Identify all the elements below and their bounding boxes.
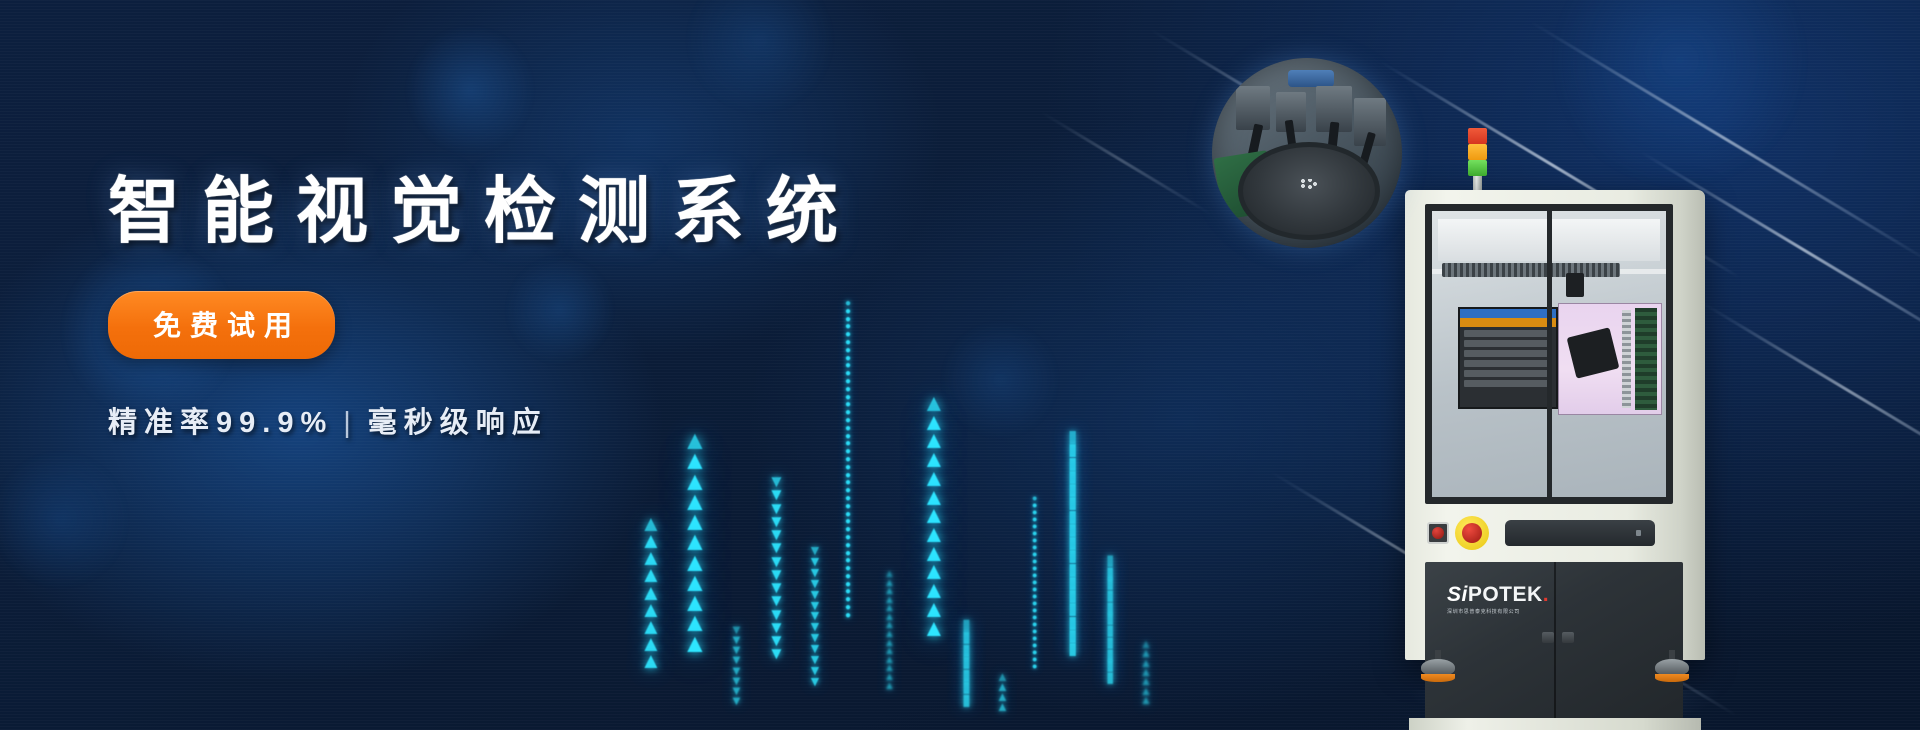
- promo-banner: ▲▲▲▲▲▲▲▲▲▲▲▲▲▲▲▲▲▲▲▲▼▼▼▼▼▼▼▼▼▼▼▼▼▼▼▼▼▼▼▼…: [0, 0, 1920, 730]
- cabinet-doors: SiPOTEK. 深圳市思普泰克科技有限公司: [1425, 562, 1683, 720]
- hmi-row: [1464, 360, 1552, 367]
- green-lamp: [1468, 160, 1487, 176]
- background-glow: [0, 450, 130, 590]
- workpiece-chip: [1567, 327, 1620, 378]
- hmi-titlebar: [1460, 309, 1556, 318]
- arrow-column: ▮▮▮▮▮▮▮: [962, 620, 971, 730]
- panel-pcb-edge: [1635, 308, 1657, 410]
- tagline-accuracy: 精准率99.9%: [108, 407, 333, 439]
- arrow-column: ▼▼▼▼▼▼▼▼: [730, 625, 743, 730]
- arrow-cell: ▲: [884, 682, 895, 691]
- machine-base: [1409, 718, 1701, 730]
- page-title: 智能视觉检测系统: [108, 172, 860, 253]
- foot-ring: [1421, 674, 1455, 682]
- arrow-cell: ▮: [1068, 642, 1077, 655]
- tagline-separator: |: [343, 407, 358, 439]
- tagline-response: 毫秒级响应: [368, 407, 548, 439]
- arrow-column: ▲▲▲▲: [996, 672, 1009, 730]
- brand-accent-dot: .: [1543, 583, 1549, 606]
- arrow-column: ▼▼▼▼▼▼▼▼▼▼▼▼▼: [808, 545, 822, 730]
- blue-cylinder-part: [1288, 70, 1334, 87]
- brand-wordmark: SiPOTEK.: [1447, 584, 1549, 605]
- hmi-row: [1464, 350, 1552, 357]
- panel-connector: [1622, 310, 1631, 408]
- hmi-row: [1464, 330, 1552, 337]
- foot-pin: [1669, 650, 1675, 659]
- signal-tower: [1468, 128, 1487, 196]
- arrow-cell: ●: [845, 612, 851, 620]
- door-handle-left[interactable]: [1542, 632, 1554, 643]
- arrow-cell: ▮: [1106, 672, 1114, 684]
- arrow-column: ▮▮▮▮▮▮▮▮▮▮▮: [1106, 555, 1114, 730]
- arrow-cell: ▲: [640, 652, 662, 669]
- inspection-camera: [1566, 273, 1584, 297]
- foot-ring: [1655, 674, 1689, 682]
- hmi-row: [1464, 370, 1552, 377]
- hmi-row: [1464, 380, 1552, 387]
- hmi-screen: [1458, 307, 1558, 409]
- arrow-cell: ▼: [730, 696, 743, 706]
- tagline: 精准率99.9%|毫秒级响应: [108, 399, 860, 441]
- arrow-column: ▼▼▼▼▼▼▼▼▼▼▼▼▼▼: [768, 475, 785, 730]
- arrow-cell: ▮: [962, 695, 971, 707]
- brand-si: Si: [1447, 583, 1468, 606]
- linear-rail: [1442, 263, 1620, 277]
- arrow-cell: ▲: [682, 633, 708, 653]
- selector-switch[interactable]: [1427, 522, 1449, 544]
- arrow-column: ▲▲▲▲▲▲▲: [1140, 640, 1152, 730]
- arrow-cell: ▼: [808, 676, 822, 687]
- amber-lamp: [1468, 144, 1487, 160]
- vision-inspection-machine: SiPOTEK. 深圳市思普泰克科技有限公司: [1405, 128, 1725, 730]
- brand-potek: POTEK: [1468, 583, 1543, 606]
- arrow-column: ▲▲▲▲▲▲▲▲▲▲▲▲▲: [922, 395, 946, 730]
- arrow-cell: ▲: [996, 702, 1009, 712]
- arrow-column: ●●●●●●●●●●●●●●●●●●●●●●●●●: [1032, 495, 1037, 730]
- rotary-turntable: [1238, 142, 1380, 240]
- camera-head-left: [1236, 86, 1270, 130]
- door-split: [1554, 562, 1556, 720]
- arrow-column: ▲▲▲▲▲▲▲▲▲▲▲: [682, 430, 708, 730]
- door-handle-right[interactable]: [1562, 632, 1574, 643]
- output-slot: [1505, 520, 1655, 546]
- arrow-cell: ▼: [768, 647, 785, 660]
- arrow-cell: ●: [1032, 663, 1037, 670]
- brand-subtitle: 深圳市思普泰克科技有限公司: [1447, 608, 1549, 615]
- brand-logo: SiPOTEK. 深圳市思普泰克科技有限公司: [1447, 584, 1549, 615]
- hmi-row: [1464, 340, 1552, 347]
- emergency-stop-button[interactable]: [1455, 516, 1489, 550]
- arrow-cell: ▲: [1140, 696, 1152, 705]
- free-trial-button[interactable]: 免费试用: [108, 291, 335, 359]
- hmi-statusbar: [1460, 318, 1556, 327]
- light-streak: [1699, 300, 1920, 488]
- machine-cabinet: SiPOTEK. 深圳市思普泰克科技有限公司: [1405, 190, 1705, 660]
- background-glow: [405, 25, 535, 155]
- control-panel: [1427, 516, 1489, 550]
- inspection-turntable-photo: [1212, 58, 1402, 248]
- banner-content: 智能视觉检测系统 免费试用 精准率99.9%|毫秒级响应: [108, 172, 860, 441]
- leveling-foot-left: [1421, 668, 1455, 694]
- workpiece-panel: [1558, 303, 1662, 415]
- window-mullion: [1547, 211, 1552, 497]
- inspection-window: [1425, 204, 1673, 504]
- foot-pin: [1435, 650, 1441, 659]
- red-lamp: [1468, 128, 1487, 144]
- arrow-cell: ▲: [922, 620, 946, 639]
- arrow-column: ▲▲▲▲▲▲▲▲▲▲▲▲▲▲: [884, 570, 895, 730]
- arrow-column: ▮▮▮▮▮▮▮▮▮▮▮▮▮▮▮▮▮: [1068, 430, 1077, 730]
- leveling-foot-right: [1655, 668, 1689, 694]
- arrow-column: ▲▲▲▲▲▲▲▲▲: [640, 515, 662, 730]
